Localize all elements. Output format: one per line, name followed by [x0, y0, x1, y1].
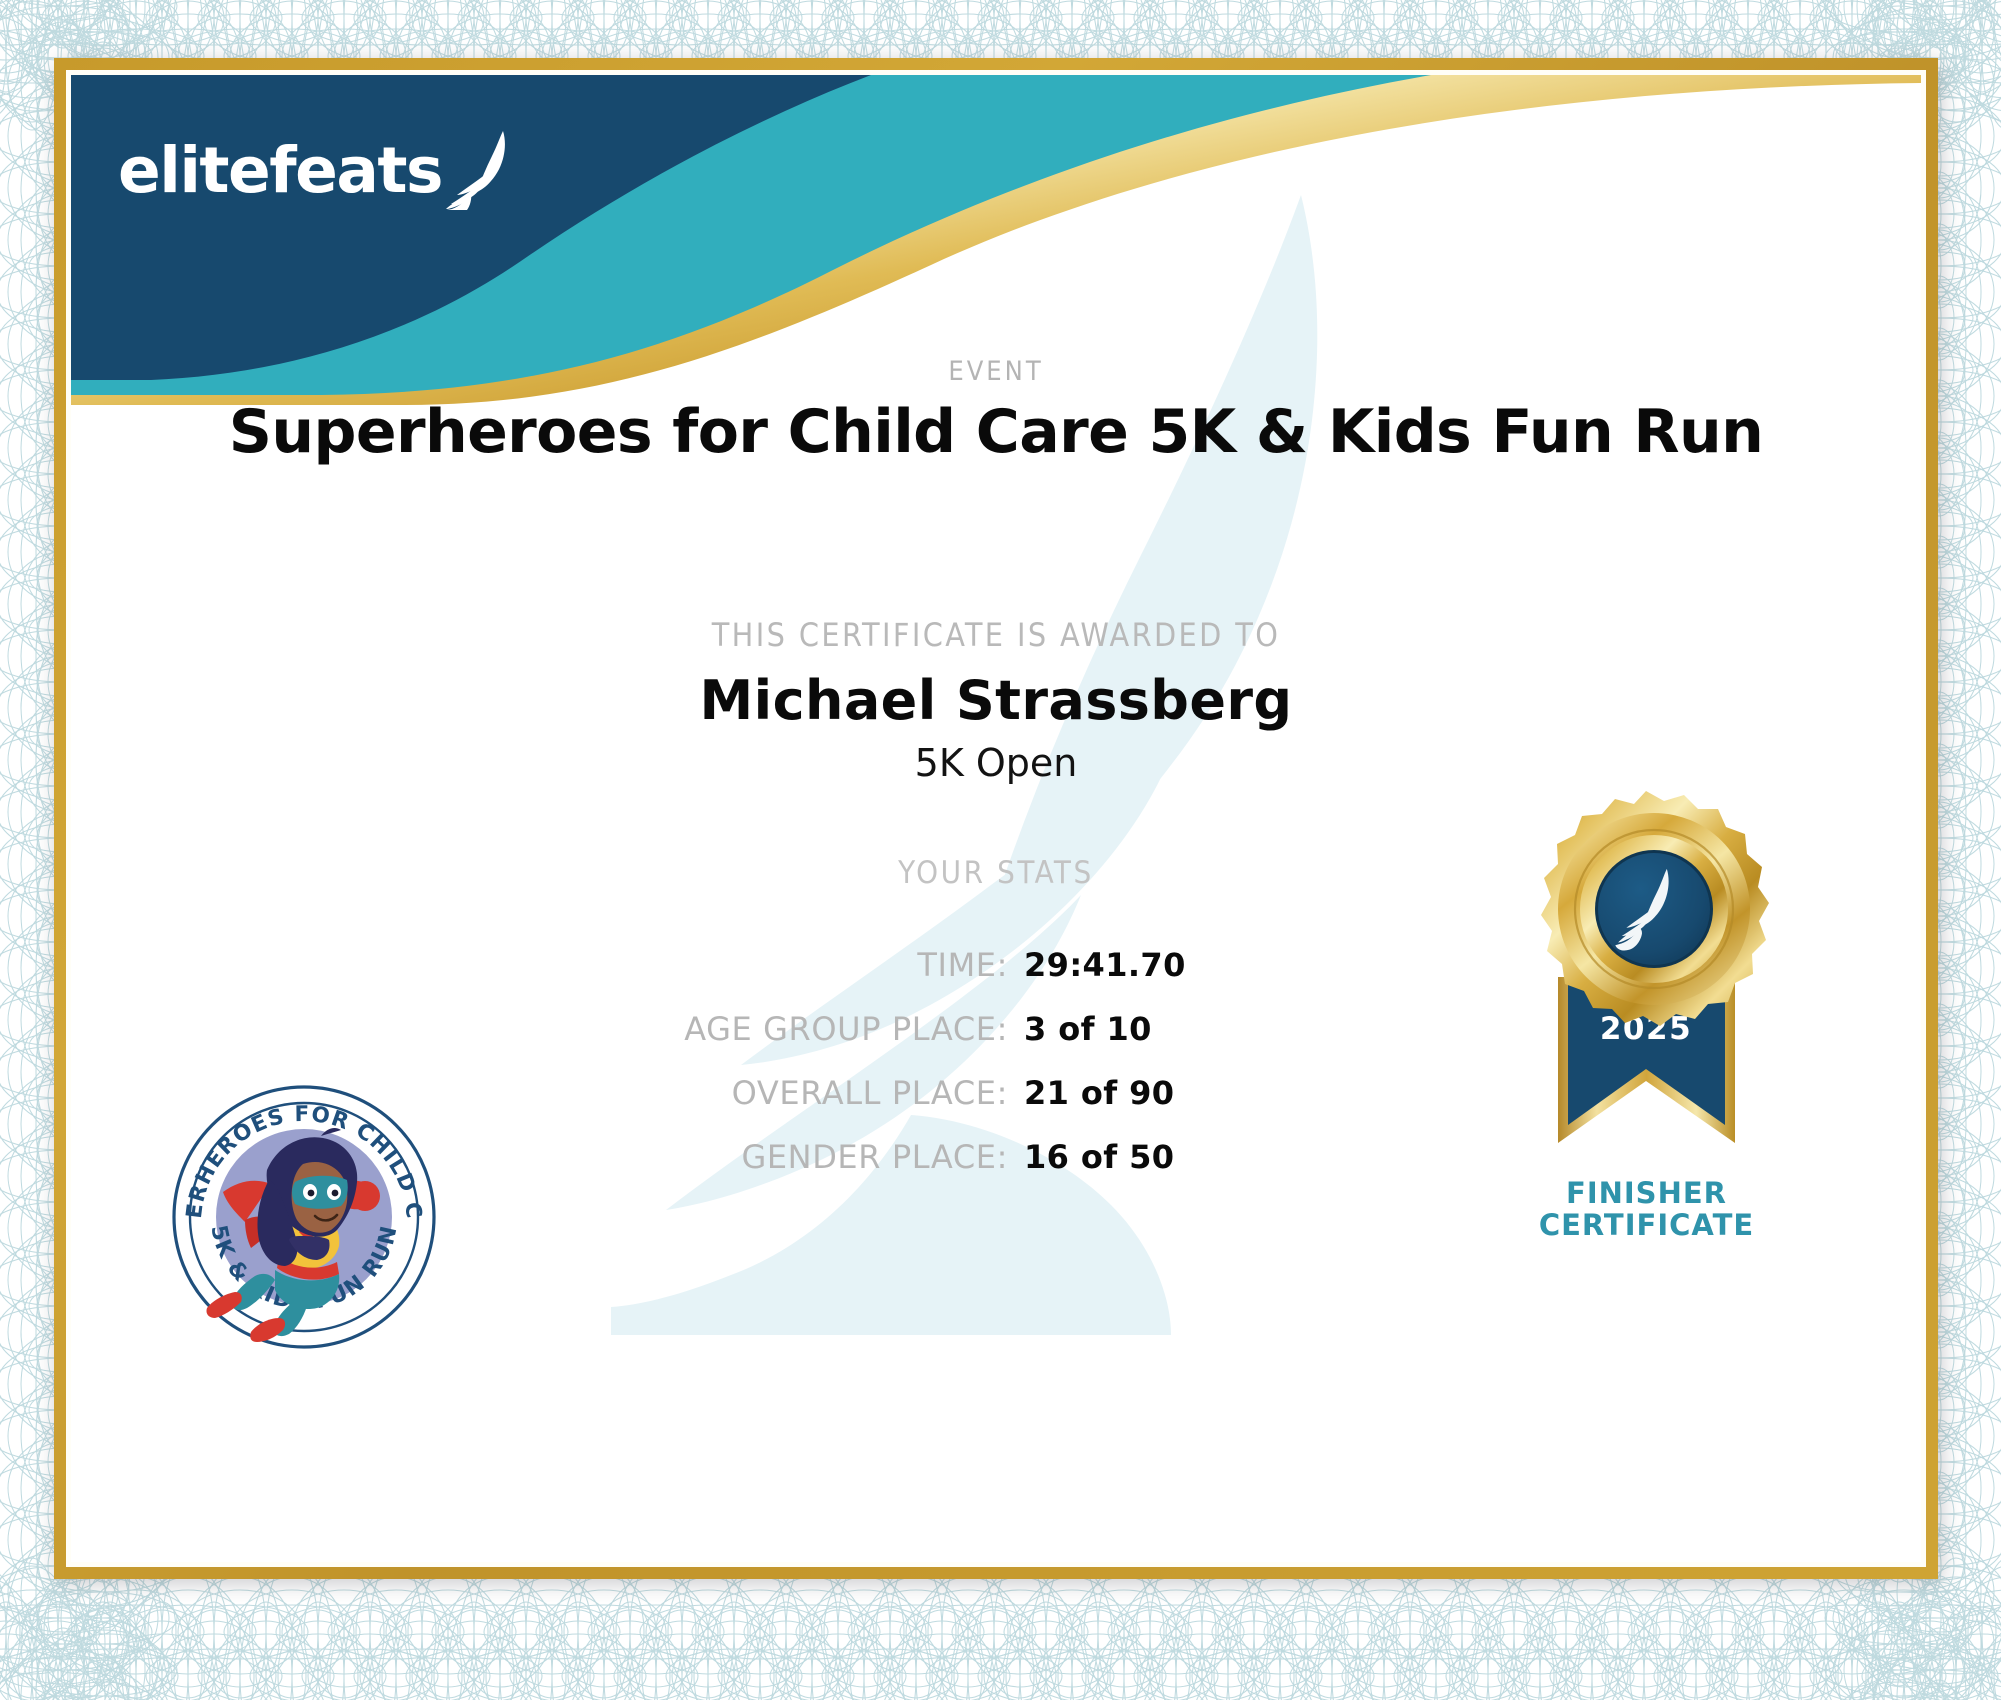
elitefeats-logo: elitefeats [118, 128, 517, 202]
stat-value: 21 of 90 [1008, 1074, 1174, 1112]
event-title: Superheroes for Child Care 5K & Kids Fun… [71, 397, 1921, 467]
event-kicker-label: EVENT [71, 356, 1921, 387]
recipient-name: Michael Strassberg [71, 669, 1921, 732]
stat-value: 16 of 50 [1008, 1138, 1174, 1176]
event-logo-badge: SUPERHEROES FOR CHILD CARE 5K & KIDS FUN… [171, 1084, 437, 1350]
certificate-page: elitefeats EVENT Superheroes for Child C… [0, 0, 2001, 1700]
stat-value: 3 of 10 [1008, 1010, 1152, 1048]
stat-label: AGE GROUP PLACE: [71, 1010, 1008, 1048]
logo-wordmark: elitefeats [118, 139, 442, 202]
seal-caption-line1: FINISHER [1484, 1177, 1809, 1209]
awarded-to-label: THIS CERTIFICATE IS AWARDED TO [71, 616, 1921, 654]
winged-foot-icon [445, 128, 517, 210]
seal-caption-line2: CERTIFICATE [1484, 1209, 1809, 1241]
certificate-body: elitefeats EVENT Superheroes for Child C… [71, 75, 1921, 1562]
stat-label: TIME: [71, 946, 1008, 984]
seal-caption: FINISHER CERTIFICATE [1484, 1177, 1809, 1242]
gold-medal-rosette-icon: 2025 [1514, 787, 1779, 1167]
recipient-division: 5K Open [71, 741, 1921, 785]
certificate-gold-frame: elitefeats EVENT Superheroes for Child C… [54, 58, 1938, 1579]
stat-value: 29:41.70 [1008, 946, 1186, 984]
